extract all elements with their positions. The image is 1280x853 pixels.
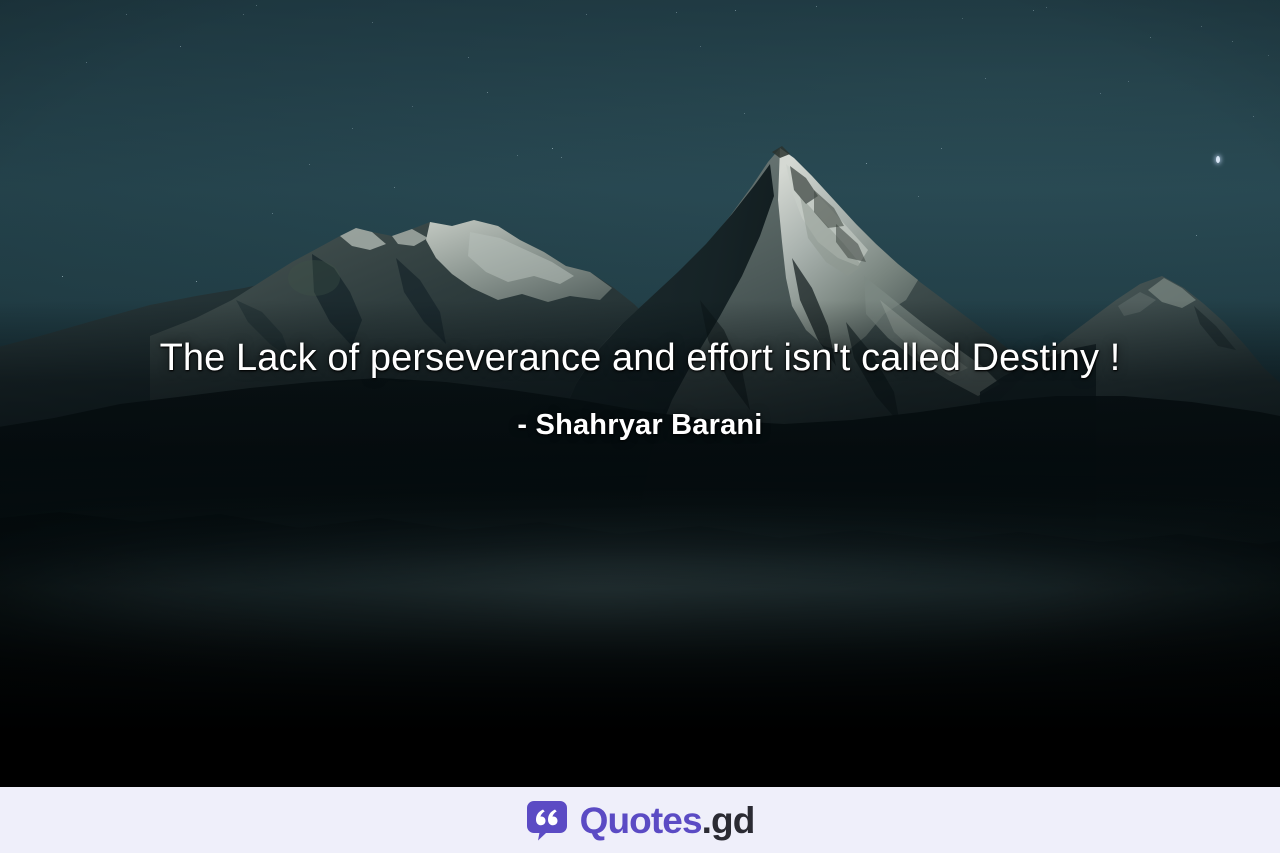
quote-overlay: The Lack of perseverance and effort isn'… [0,0,1280,787]
quote-bubble-icon [526,799,568,841]
quote-author: - Shahryar Barani [517,381,762,442]
footer-bar: Quotes.gd [0,787,1280,853]
quote-text: The Lack of perseverance and effort isn'… [100,336,1180,381]
brand-name: Quotes [580,800,702,841]
quote-image-page: The Lack of perseverance and effort isn'… [0,0,1280,853]
brand-wordmark: Quotes.gd [580,802,755,839]
quote-card: The Lack of perseverance and effort isn'… [0,0,1280,787]
brand-logo[interactable]: Quotes.gd [526,799,755,841]
brand-tld: .gd [702,800,755,841]
